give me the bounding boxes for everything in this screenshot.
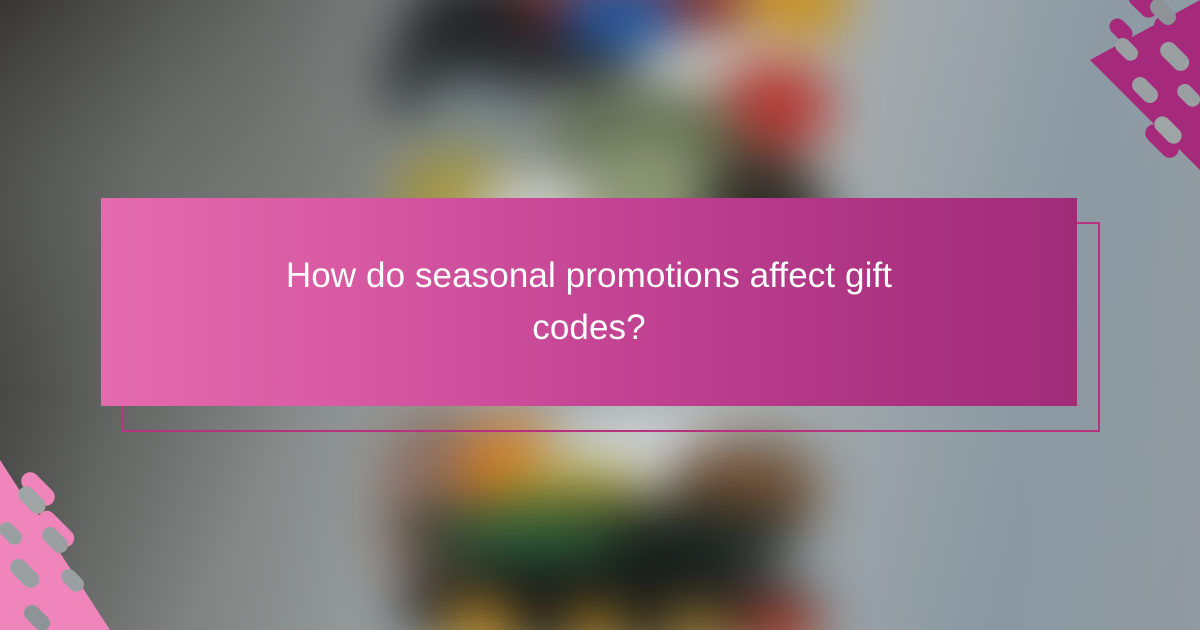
glitch-corner-top-right [1030, 0, 1200, 170]
page-title: How do seasonal promotions affect gift c… [239, 250, 939, 354]
question-banner: How do seasonal promotions affect gift c… [101, 198, 1077, 406]
glitch-corner-bottom-left [0, 460, 170, 630]
share-card-canvas: How do seasonal promotions affect gift c… [0, 0, 1200, 630]
